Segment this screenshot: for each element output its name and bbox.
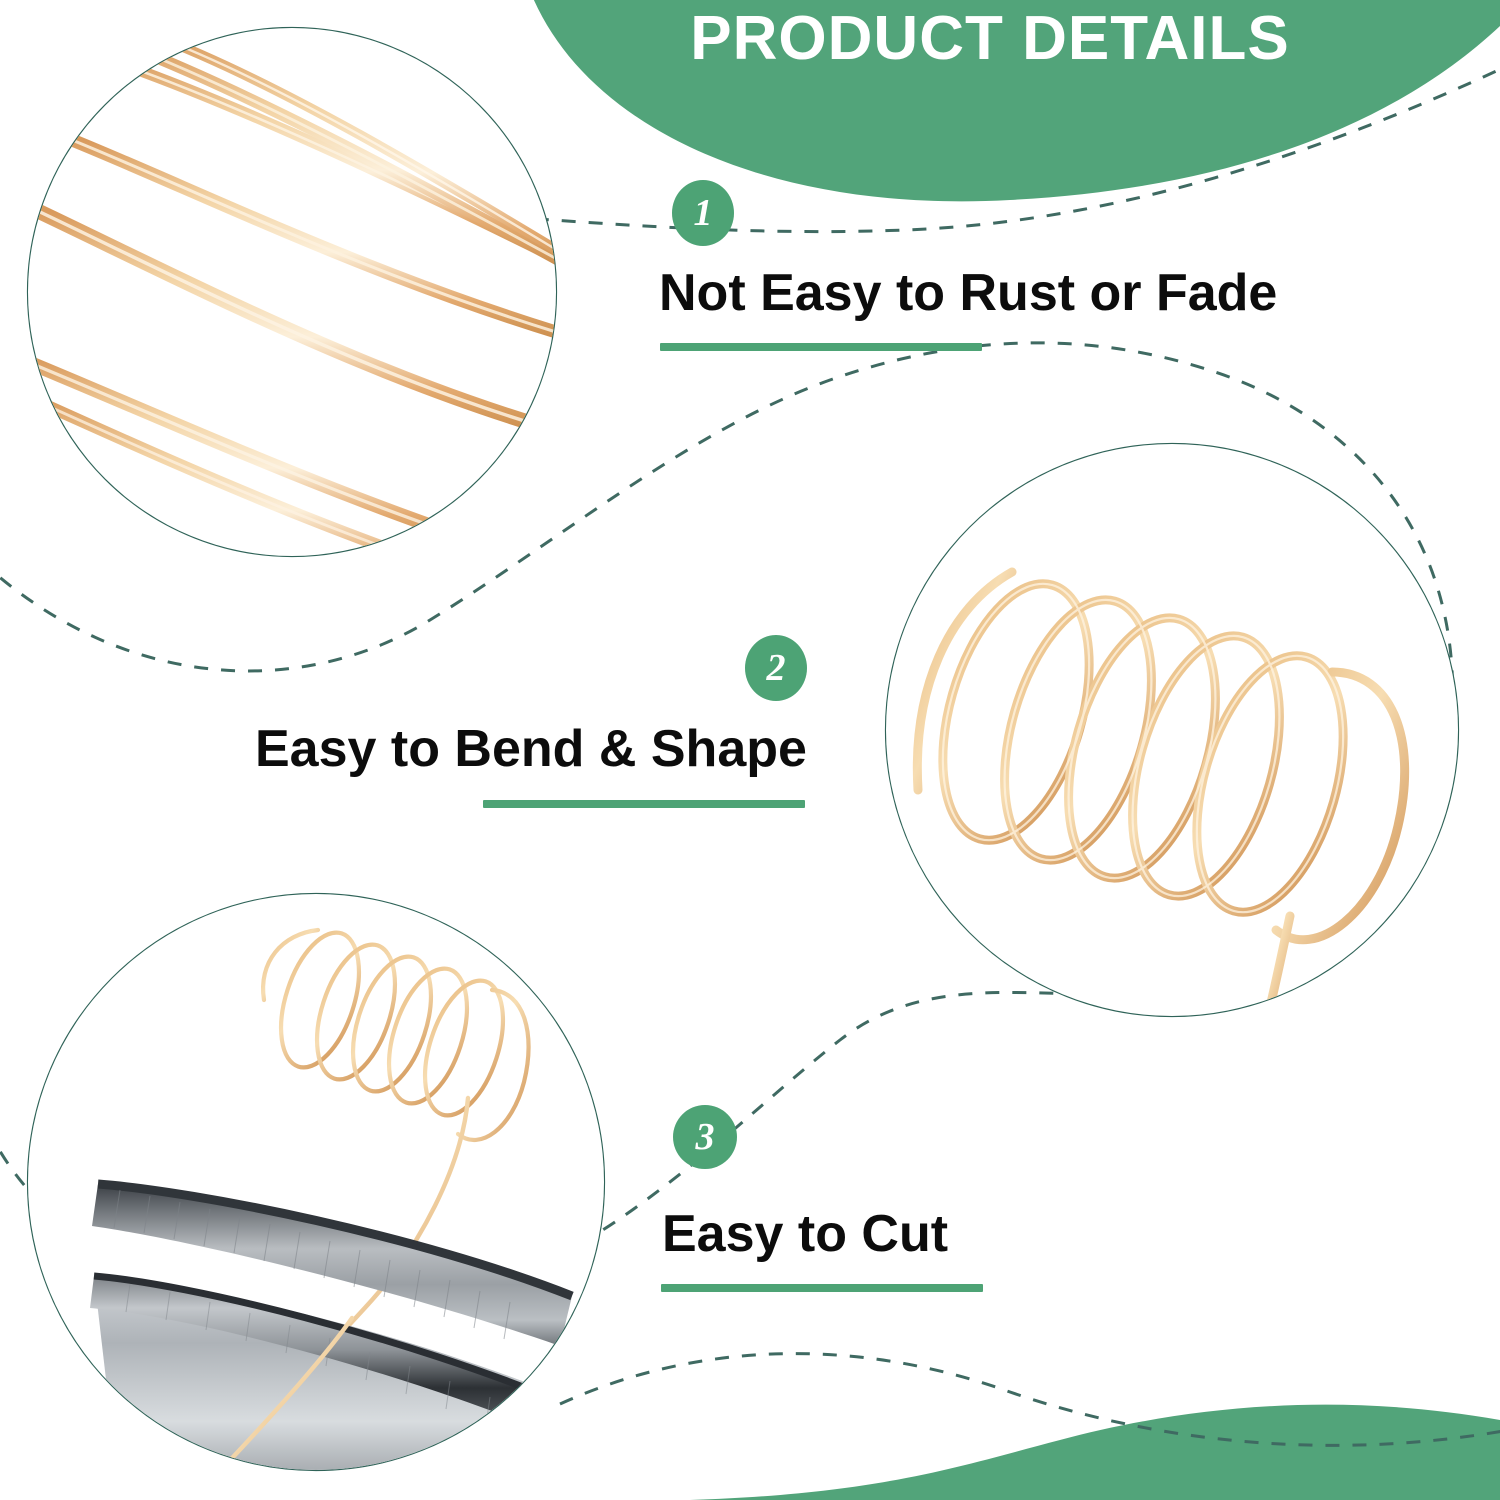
- feature-3-number-badge: 3: [673, 1105, 737, 1169]
- page-title: PRODUCT DETAILS: [640, 8, 1340, 70]
- feature-3-title: Easy to Cut: [662, 1207, 948, 1262]
- infographic-canvas: PRODUCT DETAILS 1 Not Easy to Rust or Fa…: [0, 0, 1500, 1500]
- feature-1-number-badge: 1: [672, 180, 734, 246]
- text-content-layer: PRODUCT DETAILS 1 Not Easy to Rust or Fa…: [0, 0, 1500, 1500]
- feature-2-number-badge: 2: [745, 635, 807, 701]
- feature-1-title: Not Easy to Rust or Fade: [659, 266, 1277, 321]
- feature-2-underline: [483, 800, 805, 808]
- feature-1-underline: [660, 343, 982, 351]
- feature-3-underline: [661, 1284, 983, 1292]
- feature-2-title: Easy to Bend & Shape: [255, 722, 807, 777]
